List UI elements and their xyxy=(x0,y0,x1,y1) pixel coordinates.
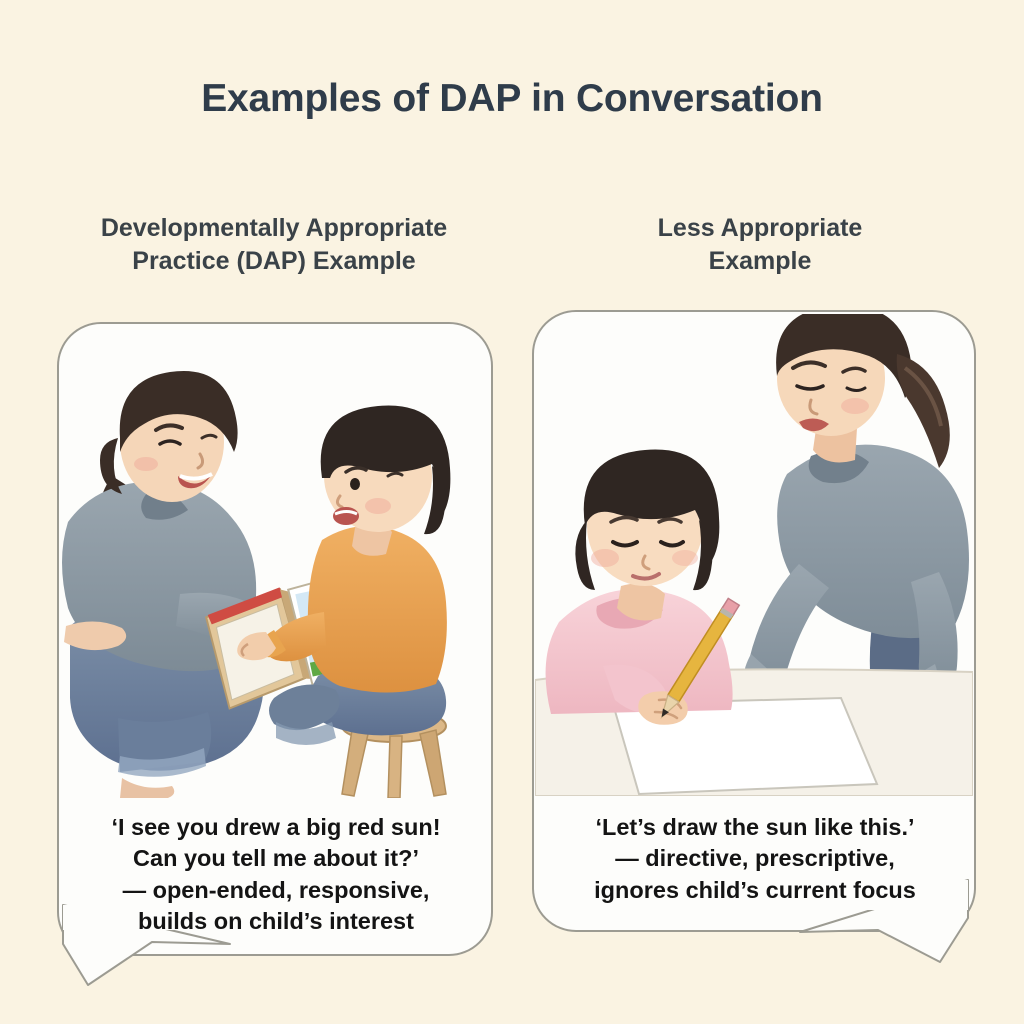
caption-dap-line-4: builds on child’s interest xyxy=(72,906,480,937)
illustration-dap-svg xyxy=(60,326,490,798)
poster-canvas: Examples of DAP in Conversation Developm… xyxy=(0,0,1024,1024)
caption-dap-line-3: — open-ended, responsive, xyxy=(72,875,480,906)
illustration-dap xyxy=(60,326,490,798)
column-heading-less: Less Appropriate Example xyxy=(540,212,980,278)
caption-less: ‘Let’s draw the sun like this.’ — direct… xyxy=(546,812,964,906)
column-heading-less-line1: Less Appropriate xyxy=(658,214,863,242)
column-heading-dap: Developmentally Appropriate Practice (DA… xyxy=(48,212,500,278)
column-heading-dap-line2: Practice (DAP) Example xyxy=(132,247,415,275)
column-heading-dap-line1: Developmentally Appropriate xyxy=(101,214,447,242)
page-title: Examples of DAP in Conversation xyxy=(0,78,1024,121)
caption-dap-line-1: ‘I see you drew a big red sun! xyxy=(72,812,480,843)
illustration-less-svg xyxy=(535,314,973,796)
caption-less-line-1: ‘Let’s draw the sun like this.’ xyxy=(546,812,964,843)
caption-less-line-3: ignores child’s current focus xyxy=(546,875,964,906)
caption-dap: ‘I see you drew a big red sun! Can you t… xyxy=(72,812,480,937)
caption-dap-line-2: Can you tell me about it?’ xyxy=(72,843,480,874)
caption-less-line-2: — directive, prescriptive, xyxy=(546,843,964,874)
illustration-less xyxy=(535,314,973,796)
column-heading-less-line2: Example xyxy=(709,247,812,275)
